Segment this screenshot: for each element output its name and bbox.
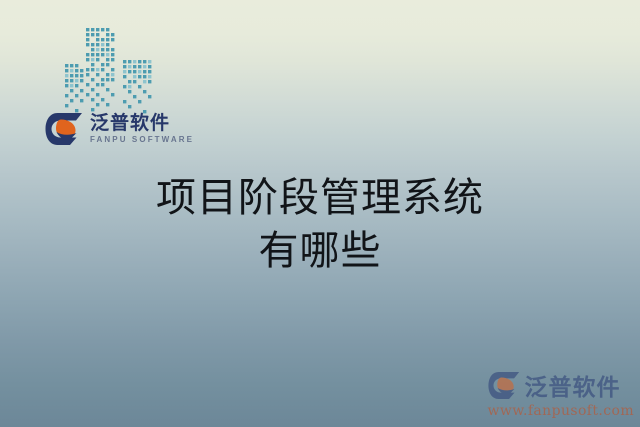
page-title-line-1: 项目阶段管理系统 [0, 172, 640, 225]
pixel-buildings-icon [62, 25, 172, 115]
watermark: 泛普软件 www.fanpusoft.com [488, 368, 634, 419]
poster-canvas: 泛普软件 FANPU SOFTWARE 项目阶段管理系统 有哪些 泛普软件 ww… [0, 0, 640, 427]
page-title: 项目阶段管理系统 有哪些 [0, 172, 640, 278]
fanpu-logo-mark [488, 371, 520, 400]
watermark-url: www.fanpusoft.com [488, 403, 634, 419]
company-logo: 泛普软件 FANPU SOFTWARE [45, 112, 194, 146]
watermark-company-name: 泛普软件 [525, 368, 621, 402]
logo-company-name-cn: 泛普软件 [90, 114, 194, 133]
logo-company-name-en: FANPU SOFTWARE [90, 136, 194, 144]
fanpu-logo-mark [45, 112, 83, 146]
page-title-line-2: 有哪些 [0, 225, 640, 278]
watermark-logo-row: 泛普软件 [488, 368, 634, 402]
